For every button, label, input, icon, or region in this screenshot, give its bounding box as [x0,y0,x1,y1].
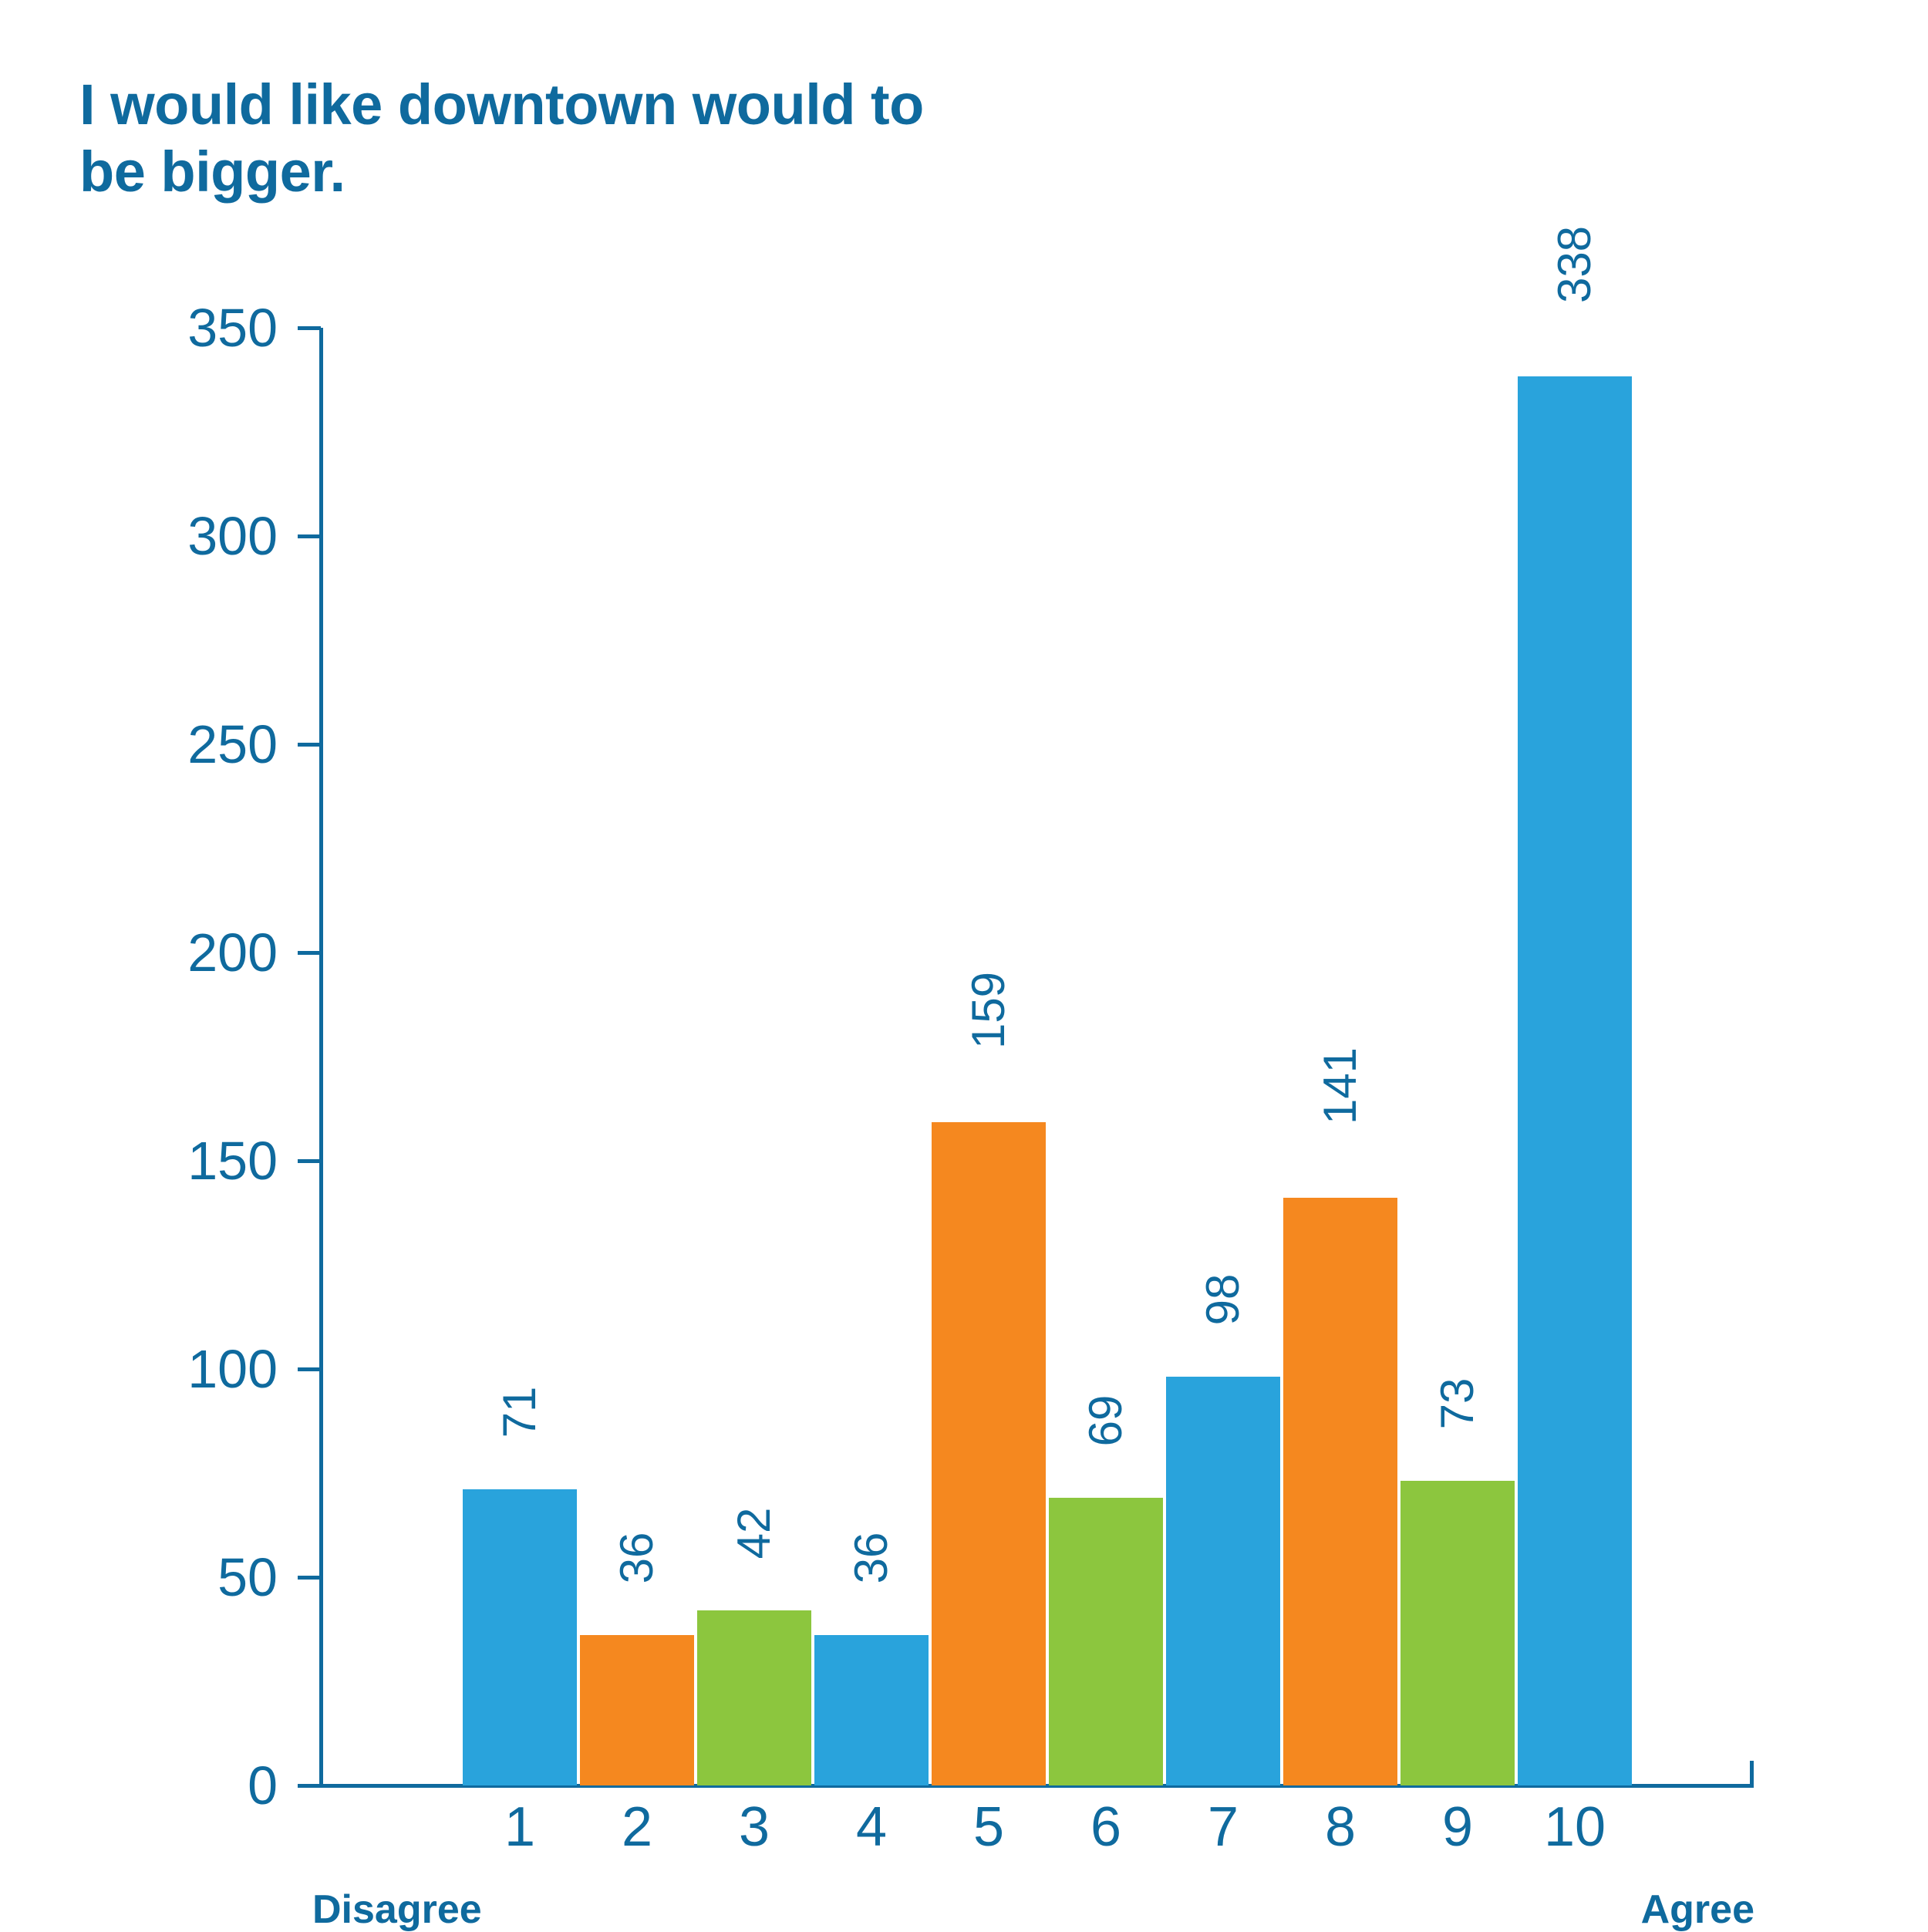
scale-endpoint-disagree: Disagree [312,1890,482,1930]
x-tick-label-3: 3 [697,1799,811,1855]
bar-9[interactable]: 73 [1400,1481,1515,1785]
x-tick-label-5: 5 [932,1799,1046,1855]
bar-value-7: 98 [1200,1274,1246,1326]
bar-6[interactable]: 69 [1049,1498,1163,1785]
bar-value-2: 36 [614,1532,660,1584]
bar-8[interactable]: 141 [1283,1198,1397,1785]
bar-value-8: 141 [1317,1047,1363,1124]
bar-value-3: 42 [731,1508,777,1559]
bar-7[interactable]: 98 [1166,1377,1280,1785]
x-tick-label-8: 8 [1283,1799,1397,1855]
bar-series: 71 36 42 36 159 69 98 141 [0,0,1928,1928]
bar-value-4: 36 [848,1532,895,1584]
bar-4[interactable]: 36 [814,1635,929,1785]
bar-value-10: 338 [1552,226,1598,303]
bar-10[interactable]: 338 [1518,376,1632,1785]
x-tick-label-6: 6 [1049,1799,1163,1855]
plot-area: 0 50 100 150 200 250 300 350 71 36 42 36 [0,0,1928,1928]
chart-page: I would like downtown would to be bigger… [0,0,1928,1928]
bar-2[interactable]: 36 [580,1635,694,1785]
bar-value-6: 69 [1083,1395,1129,1447]
x-tick-label-2: 2 [580,1799,694,1855]
scale-endpoint-agree: Agree [1627,1890,1754,1930]
x-tick-label-7: 7 [1166,1799,1280,1855]
bar-3[interactable]: 42 [697,1610,811,1785]
bar-value-5: 159 [966,972,1012,1049]
bar-5[interactable]: 159 [932,1122,1046,1785]
bar-1[interactable]: 71 [463,1489,577,1785]
x-tick-label-1: 1 [463,1799,577,1855]
x-tick-label-9: 9 [1400,1799,1515,1855]
x-tick-label-10: 10 [1518,1799,1632,1855]
bar-value-9: 73 [1434,1378,1481,1430]
bar-value-1: 71 [497,1387,543,1438]
x-tick-label-4: 4 [814,1799,929,1855]
